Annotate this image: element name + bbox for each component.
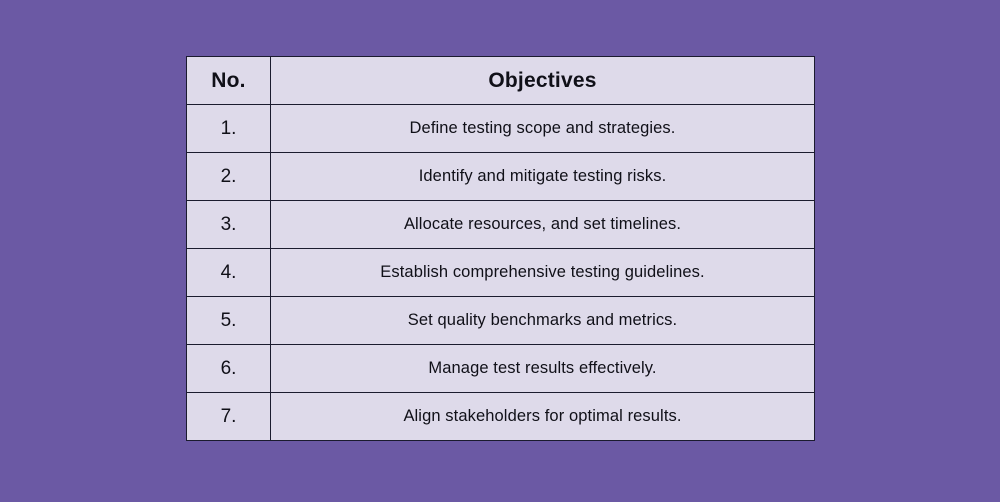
objectives-table-container: No. Objectives 1. Define testing scope a… <box>186 56 814 441</box>
row-objective: Allocate resources, and set timelines. <box>271 201 815 249</box>
table-row: 7. Align stakeholders for optimal result… <box>187 393 815 441</box>
table-row: 5. Set quality benchmarks and metrics. <box>187 297 815 345</box>
row-objective: Manage test results effectively. <box>271 345 815 393</box>
row-objective: Set quality benchmarks and metrics. <box>271 297 815 345</box>
row-number: 3. <box>187 201 271 249</box>
row-number: 6. <box>187 345 271 393</box>
table-row: 4. Establish comprehensive testing guide… <box>187 249 815 297</box>
row-number: 2. <box>187 153 271 201</box>
row-objective: Align stakeholders for optimal results. <box>271 393 815 441</box>
column-header-no: No. <box>187 57 271 105</box>
row-number: 7. <box>187 393 271 441</box>
table-body: 1. Define testing scope and strategies. … <box>187 105 815 441</box>
table-row: 3. Allocate resources, and set timelines… <box>187 201 815 249</box>
row-number: 1. <box>187 105 271 153</box>
table-header: No. Objectives <box>187 57 815 105</box>
row-number: 4. <box>187 249 271 297</box>
objectives-table: No. Objectives 1. Define testing scope a… <box>186 56 815 441</box>
page-canvas: No. Objectives 1. Define testing scope a… <box>0 0 1000 502</box>
row-number: 5. <box>187 297 271 345</box>
row-objective: Define testing scope and strategies. <box>271 105 815 153</box>
table-row: 6. Manage test results effectively. <box>187 345 815 393</box>
table-row: 1. Define testing scope and strategies. <box>187 105 815 153</box>
table-row: 2. Identify and mitigate testing risks. <box>187 153 815 201</box>
column-header-objectives: Objectives <box>271 57 815 105</box>
row-objective: Identify and mitigate testing risks. <box>271 153 815 201</box>
row-objective: Establish comprehensive testing guidelin… <box>271 249 815 297</box>
table-header-row: No. Objectives <box>187 57 815 105</box>
